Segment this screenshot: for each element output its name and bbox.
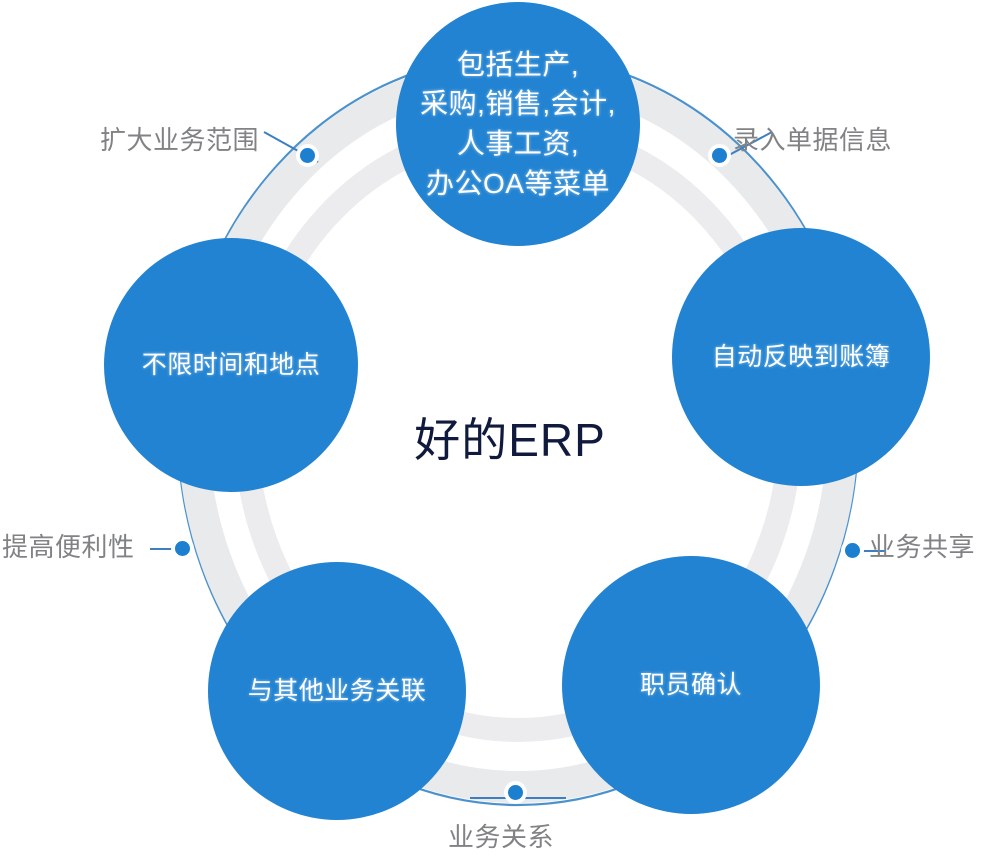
connector-dot-top-right xyxy=(712,148,727,163)
outer-label-bottom-center: 业务关系 xyxy=(448,817,554,854)
node-label-left: 不限时间和地点 xyxy=(142,349,321,382)
connector-dot-middle-right xyxy=(845,543,860,558)
connector-dot-top-left xyxy=(300,148,315,163)
outer-label-middle-left: 提高便利性 xyxy=(2,527,135,564)
connector-dot-middle-left xyxy=(175,541,190,556)
diagram-canvas: 包括生产, 采购,销售,会计, 人事工资, 办公OA等菜单 自动反映到账簿 职员… xyxy=(0,0,1000,855)
node-label-bottom-left: 与其他业务关联 xyxy=(248,675,427,708)
node-label-top: 包括生产, 采购,销售,会计, 人事工资, 办公OA等菜单 xyxy=(420,45,616,204)
node-label-bottom-right: 职员确认 xyxy=(640,669,742,702)
outer-label-middle-right: 业务共享 xyxy=(869,527,975,564)
center-title: 好的ERP xyxy=(414,414,606,466)
outer-label-top-right: 录入单据信息 xyxy=(733,120,892,157)
node-circle-top[interactable]: 包括生产, 采购,销售,会计, 人事工资, 办公OA等菜单 xyxy=(396,2,640,246)
node-circle-bottom-left[interactable]: 与其他业务关联 xyxy=(208,562,466,820)
connector-dot-bottom-center xyxy=(508,785,523,800)
outer-label-top-left: 扩大业务范围 xyxy=(100,120,259,157)
node-circle-right[interactable]: 自动反映到账簿 xyxy=(672,228,930,486)
node-circle-left[interactable]: 不限时间和地点 xyxy=(104,238,358,492)
node-label-right: 自动反映到账簿 xyxy=(712,341,891,374)
node-circle-bottom-right[interactable]: 职员确认 xyxy=(562,556,820,814)
